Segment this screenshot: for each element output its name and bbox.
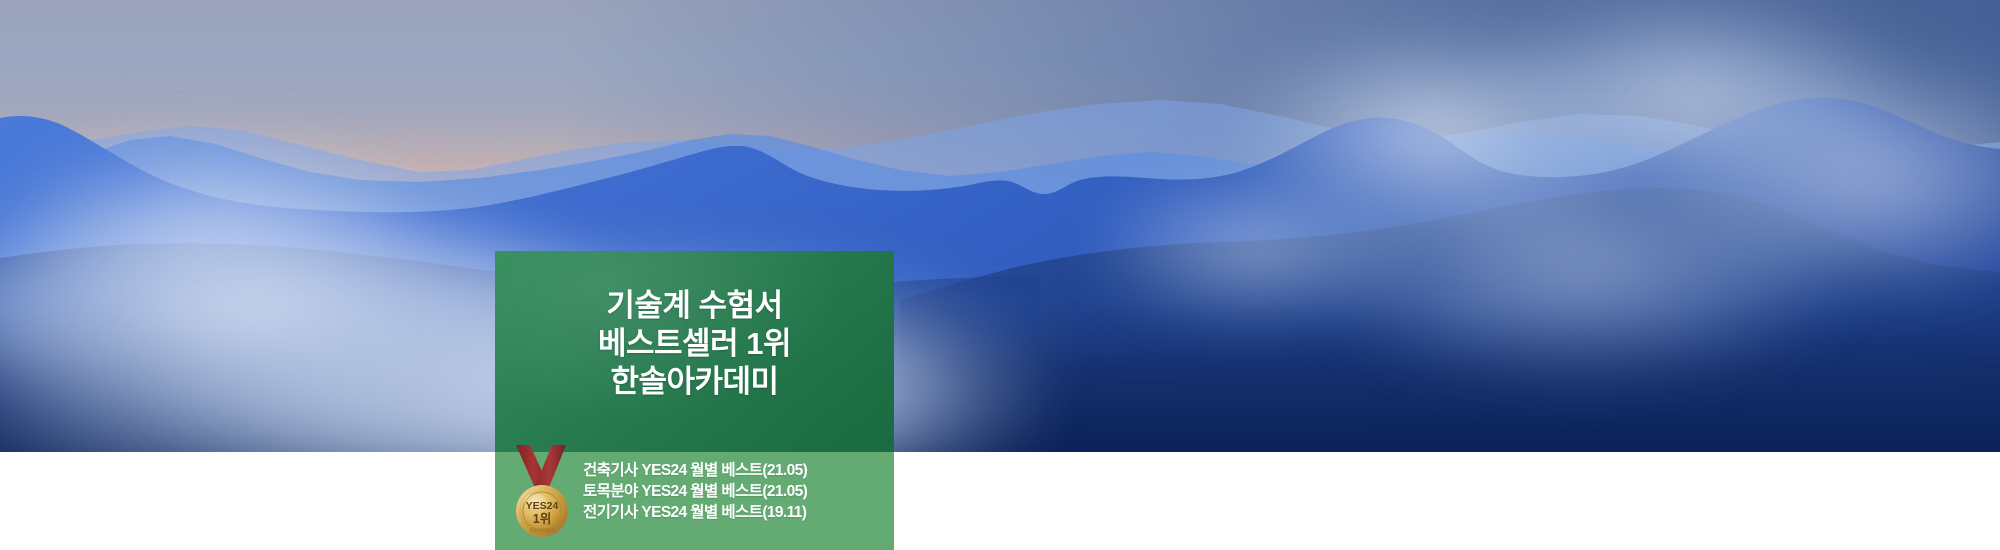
foreground-shadow [0, 0, 2000, 452]
svg-text:한솔아카데미: 한솔아카데미 [530, 527, 555, 534]
mountain-landscape-photo [0, 0, 2000, 452]
promo-headline: 기술계 수험서 베스트셀러 1위 한솔아카데미 [495, 287, 894, 401]
promo-award-line-1: 건축기사 YES24 월별 베스트(21.05) [583, 460, 807, 481]
promo-award-line-2: 토목분야 YES24 월별 베스트(21.05) [583, 481, 807, 502]
medal-top-label: YES24 [526, 500, 559, 512]
promo-headline-line-2: 베스트셀러 1위 [495, 325, 894, 363]
promo-card[interactable]: 기술계 수험서 베스트셀러 1위 한솔아카데미 [495, 251, 894, 550]
promo-award-line-3: 전기기사 YES24 월별 베스트(19.11) [583, 502, 807, 523]
promo-headline-line-3: 한솔아카데미 [495, 363, 894, 401]
promo-awards-list: 건축기사 YES24 월별 베스트(21.05) 토목분야 YES24 월별 베… [583, 460, 807, 523]
promo-headline-line-1: 기술계 수험서 [495, 287, 894, 325]
promo-banner: 기술계 수험서 베스트셀러 1위 한솔아카데미 [0, 0, 2000, 550]
medal-bottom-label: 1위 [533, 512, 551, 526]
medal-icon: YES24 1위 한솔아카데미 [508, 445, 580, 541]
